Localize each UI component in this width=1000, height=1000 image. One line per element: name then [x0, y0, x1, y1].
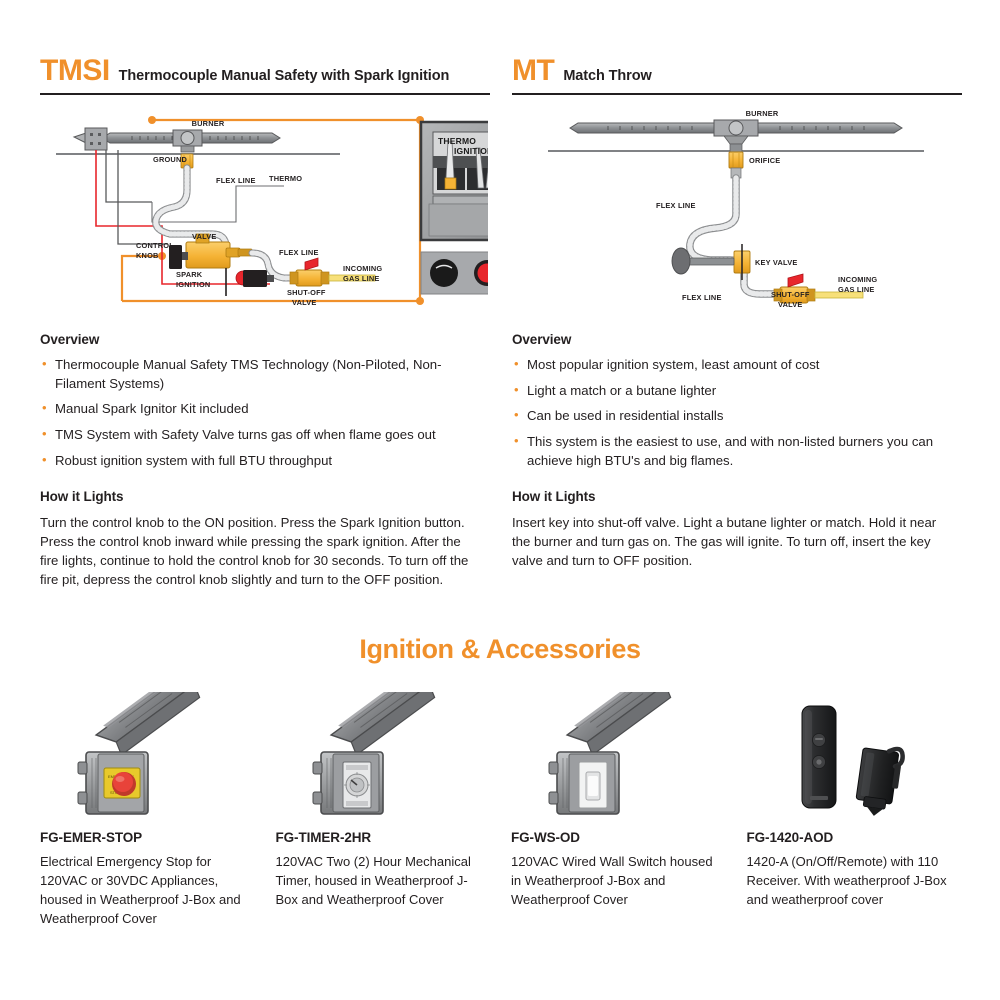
list-item: Can be used in residential installs — [512, 407, 942, 426]
accessory-description: 1420-A (On/Off/Remote) with 110 Receiver… — [747, 853, 961, 910]
wall-switch-jbox-icon — [511, 688, 725, 826]
list-item: Light a match or a butane lighter — [512, 382, 942, 401]
overview-title-tmsi: Overview — [40, 332, 470, 347]
header-divider-tmsi — [40, 93, 490, 95]
brochure-page: TMSI Thermocouple Manual Safety with Spa… — [0, 0, 1000, 1000]
accessory-description: 120VAC Two (2) Hour Mechanical Timer, ho… — [276, 853, 490, 910]
howitlights-title-tmsi: How it Lights — [40, 489, 470, 504]
system-header-row-tmsi: TMSI Thermocouple Manual Safety with Spa… — [40, 56, 490, 86]
label-shutoff-1: SHUT-OFF — [287, 288, 326, 297]
control-panel-box: THERMO IGNITION — [421, 122, 488, 240]
accessory-card-1420-aod: FG-1420-AOD 1420-A (On/Off/Remote) with … — [747, 688, 961, 928]
text-block-tmsi: Overview Thermocouple Manual Safety TMS … — [40, 332, 470, 589]
howitlights-block-mt: How it Lights Insert key into shut-off v… — [512, 489, 942, 570]
howitlights-block-tmsi: How it Lights Turn the control knob to t… — [40, 489, 470, 590]
diagram-tmsi: THERMO IGNITION BURNER GROUND FLEX LINE … — [40, 104, 488, 309]
list-item: Manual Spark Ignitor Kit included — [40, 400, 470, 419]
orange-node-top — [148, 116, 156, 124]
panel-label-ignition: IGNITION — [454, 146, 488, 156]
accessory-sku: FG-1420-AOD — [747, 830, 961, 845]
label-burner-mt: BURNER — [746, 109, 779, 118]
header-divider-mt — [512, 93, 962, 95]
howitlights-text-tmsi: Turn the control knob to the ON position… — [40, 513, 470, 590]
label-shutoff-2: VALVE — [292, 298, 317, 307]
overview-list-tmsi: Thermocouple Manual Safety TMS Technolog… — [40, 356, 470, 471]
list-item: This system is the easiest to use, and w… — [512, 433, 942, 470]
list-item: Most popular ignition system, least amou… — [512, 356, 942, 375]
label-key-valve: KEY VALVE — [755, 258, 797, 267]
burner-graphic — [102, 130, 280, 168]
howitlights-title-mt: How it Lights — [512, 489, 942, 504]
accessory-description: 120VAC Wired Wall Switch housed in Weath… — [511, 853, 725, 910]
accessory-description: Electrical Emergency Stop for 120VAC or … — [40, 853, 254, 928]
accessory-sku: FG-TIMER-2HR — [276, 830, 490, 845]
label-incoming-2-mt: GAS LINE — [838, 285, 875, 294]
accessories-grid: EMERGENCY STOP FG-EMER-STOP Electrical E… — [40, 688, 960, 928]
label-incoming-1: INCOMING — [343, 264, 382, 273]
text-block-mt: Overview Most popular ignition system, l… — [512, 332, 942, 570]
knob-button-panel — [421, 252, 488, 294]
label-orifice: ORIFICE — [749, 156, 780, 165]
system-header-mt: MT Match Throw — [512, 56, 962, 95]
accessory-sku: FG-WS-OD — [511, 830, 725, 845]
label-control-1: CONTROL — [136, 241, 174, 250]
system-name-mt: Match Throw — [563, 69, 651, 84]
label-ground: GROUND — [153, 155, 188, 164]
label-spark-1: SPARK — [176, 270, 203, 279]
burner-graphic-mt — [570, 120, 902, 152]
diagram-mt: BURNER ORIFICE FLEX LINE KEY VALVE FLEX … — [512, 104, 960, 309]
system-abbr-mt: MT — [512, 56, 554, 86]
accessory-sku: FG-EMER-STOP — [40, 830, 254, 845]
panel-label-thermo: THERMO — [438, 136, 476, 146]
list-item: Thermocouple Manual Safety TMS Technolog… — [40, 356, 470, 393]
overview-title-mt: Overview — [512, 332, 942, 347]
list-item: TMS System with Safety Valve turns gas o… — [40, 426, 470, 445]
label-burner: BURNER — [192, 119, 225, 128]
system-abbr-tmsi: TMSI — [40, 56, 110, 86]
spark-electrode-block — [74, 128, 107, 150]
accessories-title: Ignition & Accessories — [0, 634, 1000, 665]
key-valve-graphic — [672, 244, 750, 280]
label-valve: VALVE — [192, 232, 217, 241]
label-incoming-1-mt: INCOMING — [838, 275, 877, 284]
list-item: Robust ignition system with full BTU thr… — [40, 452, 470, 471]
label-control-2: KNOB — [136, 251, 159, 260]
label-flex-line-2-mt: FLEX LINE — [682, 293, 722, 302]
label-shutoff-1-mt: SHUT-OFF — [771, 290, 810, 299]
accessory-card-ws-od: FG-WS-OD 120VAC Wired Wall Switch housed… — [511, 688, 725, 928]
remote-and-receiver-icon — [747, 688, 961, 826]
emergency-stop-jbox-icon: EMERGENCY STOP — [40, 688, 254, 826]
accessory-card-timer-2hr: FG-TIMER-2HR 120VAC Two (2) Hour Mechani… — [276, 688, 490, 928]
label-flex-line-1: FLEX LINE — [216, 176, 256, 185]
label-spark-2: IGNITION — [176, 280, 210, 289]
label-flex-line-2: FLEX LINE — [279, 248, 319, 257]
system-name-tmsi: Thermocouple Manual Safety with Spark Ig… — [119, 69, 450, 84]
overview-list-mt: Most popular ignition system, least amou… — [512, 356, 942, 471]
label-incoming-2: GAS LINE — [343, 274, 380, 283]
orifice-graphic — [729, 152, 743, 178]
system-header-tmsi: TMSI Thermocouple Manual Safety with Spa… — [40, 56, 490, 95]
mechanical-timer-jbox-icon — [276, 688, 490, 826]
system-header-row-mt: MT Match Throw — [512, 56, 962, 86]
spark-ignition-module — [226, 268, 274, 296]
label-thermo: THERMO — [269, 174, 302, 183]
accessory-card-emer-stop: EMERGENCY STOP FG-EMER-STOP Electrical E… — [40, 688, 254, 928]
label-flex-line-1-mt: FLEX LINE — [656, 201, 696, 210]
label-shutoff-2-mt: VALVE — [778, 300, 803, 309]
howitlights-text-mt: Insert key into shut-off valve. Light a … — [512, 513, 942, 570]
